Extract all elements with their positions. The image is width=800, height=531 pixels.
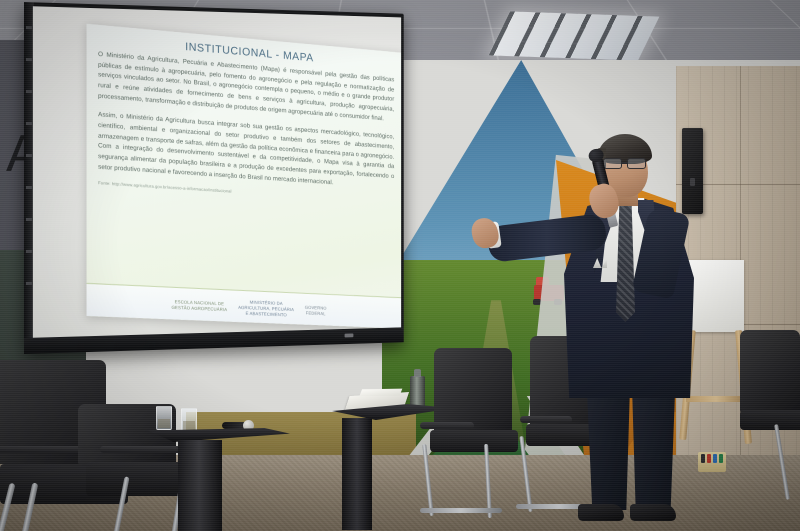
slide-content: INSTITUCIONAL - MAPA O Ministério da Agr…	[87, 24, 402, 329]
water-glass-1	[156, 406, 172, 430]
logo-enagro: ESCOLA NACIONAL DE GESTÃO AGROPECUÁRIA	[171, 299, 227, 313]
eyeglasses-icon	[602, 158, 650, 169]
water-glass-2	[181, 408, 197, 432]
shoe-left	[578, 504, 624, 521]
screen-surface: INSTITUCIONAL - MAPA O Ministério da Agr…	[33, 6, 401, 337]
presentation-room-photo: A	[0, 0, 800, 531]
logo-ministerio-agricultura: MINISTÉRIO DA AGRICULTURA, PECUÁRIA E AB…	[238, 299, 294, 319]
presenter-legs	[582, 386, 686, 531]
chair-right[interactable]	[740, 330, 800, 480]
ceiling-light-fixture	[489, 11, 660, 60]
shoe-right	[630, 504, 676, 521]
side-table-left[interactable]	[148, 428, 290, 531]
slide-footer: ESCOLA NACIONAL DE GESTÃO AGROPECUÁRIA M…	[87, 283, 402, 329]
slide-paragraph-2: Assim, o Ministério da Agricultura busca…	[98, 111, 394, 193]
presenter	[486, 136, 736, 531]
projection-screen[interactable]: INSTITUCIONAL - MAPA O Ministério da Agr…	[24, 2, 404, 354]
microphone-on-table[interactable]	[222, 422, 248, 429]
logo-governo-federal: GOVERNO FEDERAL	[305, 305, 327, 317]
